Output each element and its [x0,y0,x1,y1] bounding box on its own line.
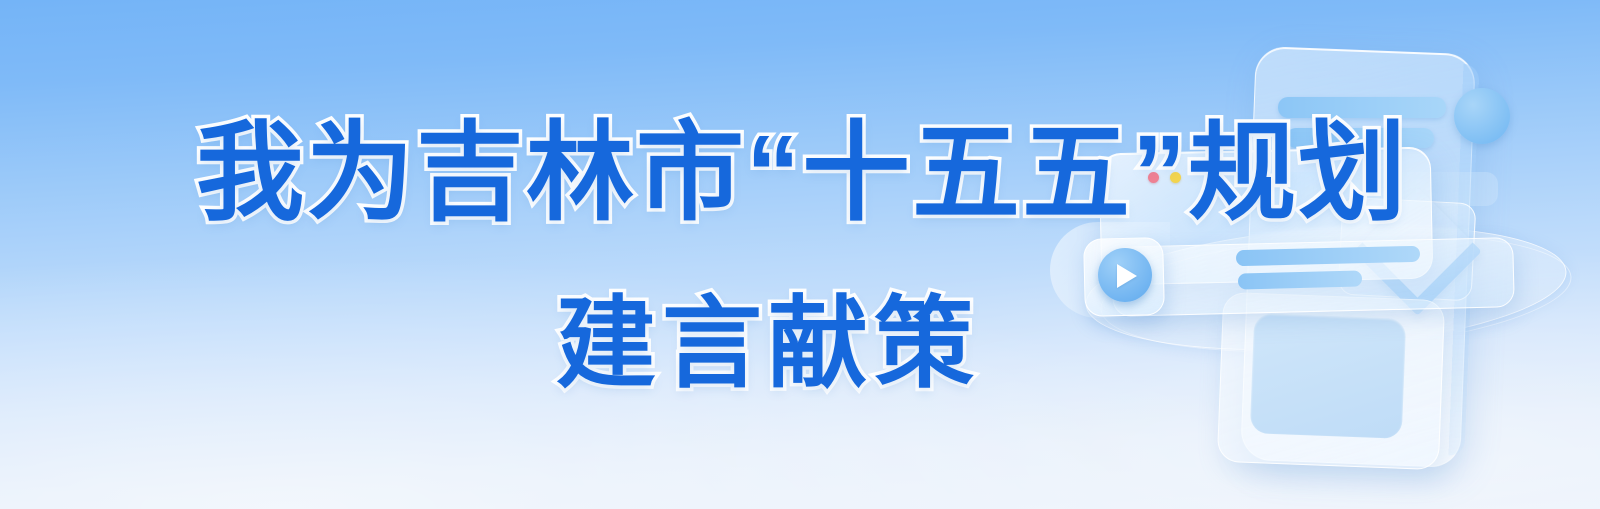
headline-group: 我为吉林市“十五五”规划 建言献策 [0,0,1600,509]
banner-root: 我为吉林市“十五五”规划 建言献策 [0,0,1600,509]
headline-line-1: 我为吉林市“十五五”规划 [196,118,1408,228]
headline-line-2: 建言献策 [556,292,980,396]
